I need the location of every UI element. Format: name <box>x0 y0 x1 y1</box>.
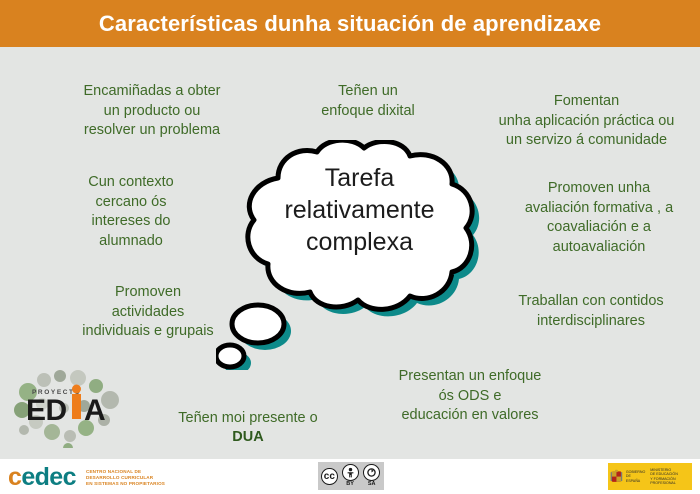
cc-by-label: BY <box>341 481 360 487</box>
page-title: Características dunha situación de apren… <box>99 11 601 37</box>
caption-dua-line: Teñen moi presente o <box>178 410 317 426</box>
person-icon <box>345 467 356 478</box>
caption-fomentan: Fomentan unha aplicación práctica ou un … <box>473 92 700 151</box>
government-logo: GOBIERNO DE ESPAÑA MINISTERIO DE EDUCACI… <box>608 463 692 490</box>
caption-avaliacion: Promoven unha avaliación formativa , a c… <box>500 179 698 257</box>
footer-bar: cedec CENTRO NACIONAL DE DESARROLLO CURR… <box>0 459 700 494</box>
cc-sa-icon: SA <box>362 464 381 488</box>
coat-of-arms-icon <box>610 466 623 488</box>
cc-by-icon: BY <box>341 464 360 488</box>
cc-logo-icon: cc <box>321 468 338 485</box>
government-line1: GOBIERNO DE ESPAÑA <box>626 470 645 483</box>
title-bar: Características dunha situación de apren… <box>0 0 700 47</box>
cedec-wordmark-first: c <box>8 463 21 491</box>
share-alike-icon <box>366 467 377 478</box>
caption-dixital: Teñen un enfoque dixital <box>288 82 448 121</box>
caption-dua: Teñen moi presente o DUA <box>148 389 348 467</box>
cedec-wordmark-rest: edec <box>21 463 76 491</box>
edia-brain-icon: PROYECTO ED A <box>12 362 130 448</box>
svg-text:A: A <box>84 394 106 427</box>
thought-cloud-text: Tarefa relativamente complexa <box>252 162 467 258</box>
svg-text:ED: ED <box>26 394 67 427</box>
edia-logo: PROYECTO ED A <box>12 362 130 448</box>
cedec-tagline: CENTRO NACIONAL DE DESARROLLO CURRICULAR… <box>86 469 165 486</box>
cedec-logo: cedec CENTRO NACIONAL DE DESARROLLO CURR… <box>8 462 168 492</box>
caption-contidos: Traballan con contidos interdisciplinare… <box>493 292 689 331</box>
government-line2: MINISTERIO DE EDUCACIÓN Y FORMACIÓN PROF… <box>650 468 692 486</box>
infographic-canvas: Características dunha situación de apren… <box>0 0 700 494</box>
caption-ods: Presentan un enfoque ós ODS e educación … <box>372 367 568 426</box>
caption-contexto: Cun contexto cercano ós intereses do alu… <box>56 173 206 251</box>
creative-commons-badge[interactable]: cc BY SA <box>318 462 384 490</box>
caption-dua-emphasis: DUA <box>148 428 348 448</box>
caption-producto: Encamiñadas a obter un producto ou resol… <box>46 82 258 141</box>
thought-cloud: Tarefa relativamente complexa <box>216 140 506 370</box>
cc-sa-label: SA <box>362 481 381 487</box>
cedec-wordmark: cedec <box>8 464 76 490</box>
